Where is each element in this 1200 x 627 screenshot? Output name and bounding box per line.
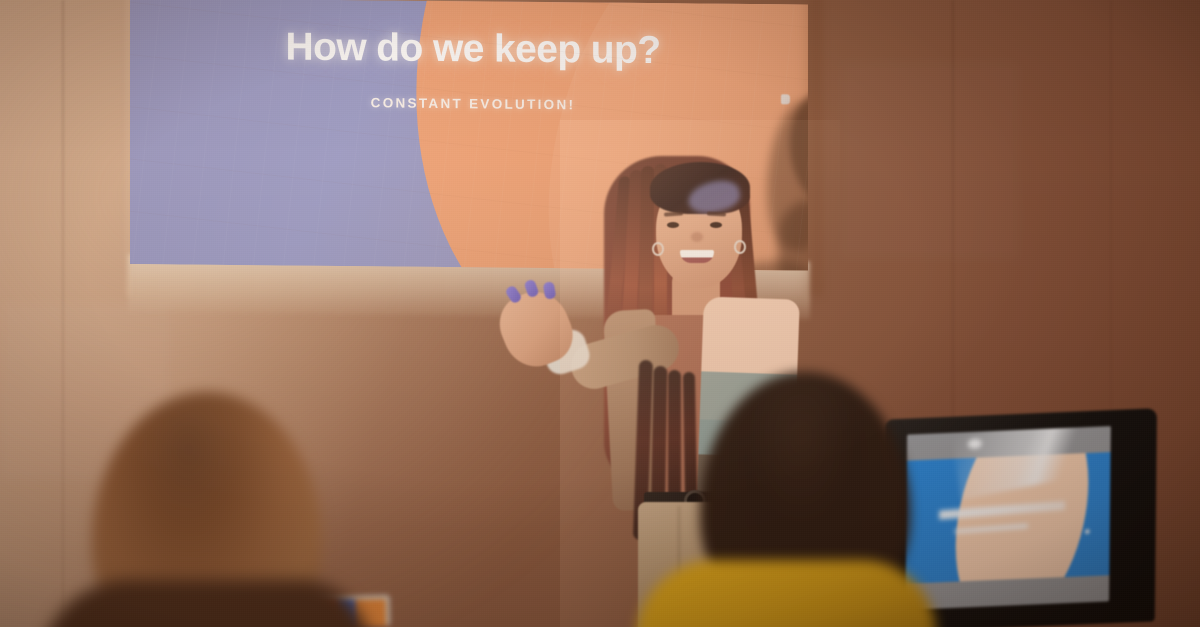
- scene-vignette: [0, 0, 1200, 627]
- presentation-scene: How do we keep up? CONSTANT EVOLUTION!: [0, 0, 1200, 627]
